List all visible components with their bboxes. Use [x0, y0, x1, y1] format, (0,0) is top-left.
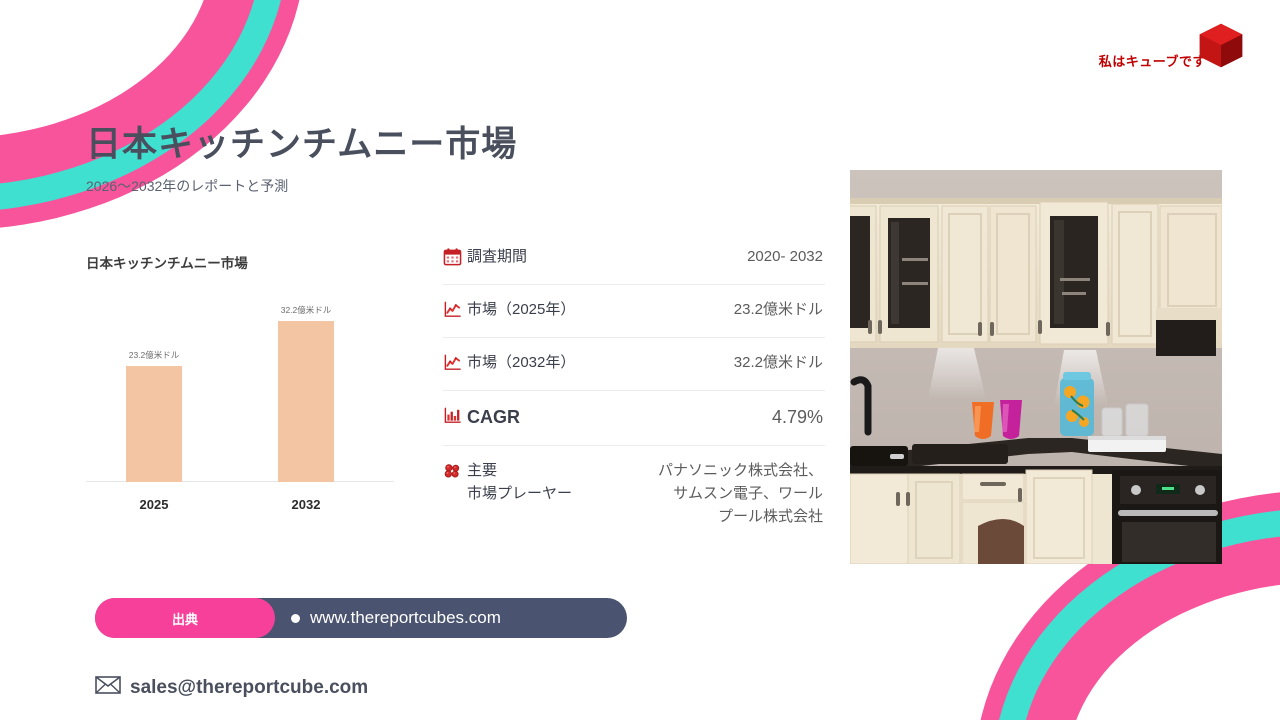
chart-bar-group: 32.2億米ドル	[278, 304, 334, 482]
line-chart-up-icon	[443, 300, 462, 319]
fact-label: CAGR	[443, 404, 520, 432]
slide-canvas: 私はキューブです 日本キッチンチムニー市場 2026〜2032年のレポートと予測…	[0, 0, 1280, 720]
ribbon-white-fill	[1067, 582, 1280, 720]
brand-logo-text: 私はキューブです	[1099, 51, 1206, 70]
stacked-cubes-icon	[443, 461, 462, 480]
chart-plot-area: 23.2億米ドル 2025 32.2億米ドル 2032	[86, 280, 386, 528]
chart-category-label: 2025	[126, 497, 182, 512]
fact-row-market-2032: 市場（2032年） 32.2億米ドル	[443, 338, 825, 391]
fact-label-text: 調査期間	[467, 245, 527, 268]
line-chart-up-icon	[443, 353, 462, 372]
chart-bar-value: 32.2億米ドル	[281, 304, 332, 316]
chart-category-label: 2032	[278, 497, 334, 512]
fact-label-text: 主要 市場プレーヤー	[467, 459, 572, 506]
fact-label: 市場（2025年）	[443, 298, 575, 321]
brand-logo: 私はキューブです	[1099, 18, 1250, 76]
source-label-pill: 出典	[95, 598, 275, 638]
fact-label-text: 市場（2025年）	[467, 298, 575, 321]
kitchen-interior-photo	[850, 170, 1222, 564]
fact-value: 4.79%	[772, 404, 823, 432]
fact-value: 23.2億米ドル	[734, 298, 823, 321]
fact-label-text: CAGR	[467, 404, 520, 432]
chart-bar	[278, 321, 334, 482]
source-url-text: www.thereportcubes.com	[310, 608, 501, 628]
envelope-icon	[95, 676, 121, 699]
chart-bar-value: 23.2億米ドル	[129, 349, 180, 361]
chart-bar	[126, 366, 182, 482]
red-cube-icon	[1192, 18, 1250, 76]
contact-email-text: sales@thereportcube.com	[130, 677, 368, 699]
fact-label: 市場（2032年）	[443, 351, 575, 374]
fact-label-text: 市場（2032年）	[467, 351, 575, 374]
key-facts-table: 調査期間 2020- 2032 市場（2025年） 23.2億米ドル	[443, 232, 825, 542]
contact-email-row[interactable]: sales@thereportcube.com	[95, 676, 368, 699]
fact-row-key-players: 主要 市場プレーヤー パナソニック株式会社、 サムスン電子、ワール プール株式会…	[443, 446, 825, 542]
source-url[interactable]: www.thereportcubes.com	[291, 608, 501, 628]
chart-bar-group: 23.2億米ドル	[126, 349, 182, 482]
fact-row-study-period: 調査期間 2020- 2032	[443, 232, 825, 285]
bullet-dot-icon	[291, 614, 300, 623]
fact-value: 2020- 2032	[747, 245, 823, 268]
page-title: 日本キッチンチムニー市場	[86, 116, 517, 167]
fact-value: パナソニック株式会社、 サムスン電子、ワール プール株式会社	[658, 459, 823, 529]
fact-label: 調査期間	[443, 245, 527, 268]
market-bar-chart: 日本キッチンチムニー市場 23.2億米ドル 2025 32.2億米ドル 2032	[86, 252, 386, 528]
fact-label: 主要 市場プレーヤー	[443, 459, 572, 506]
calendar-icon	[443, 247, 462, 266]
fact-row-cagr: CAGR 4.79%	[443, 391, 825, 446]
bar-chart-icon	[443, 406, 462, 425]
source-bar[interactable]: 出典 www.thereportcubes.com	[95, 598, 627, 638]
page-subtitle: 2026〜2032年のレポートと予測	[86, 176, 288, 196]
fact-row-market-2025: 市場（2025年） 23.2億米ドル	[443, 285, 825, 338]
fact-value: 32.2億米ドル	[734, 351, 823, 374]
chart-title: 日本キッチンチムニー市場	[86, 252, 386, 272]
